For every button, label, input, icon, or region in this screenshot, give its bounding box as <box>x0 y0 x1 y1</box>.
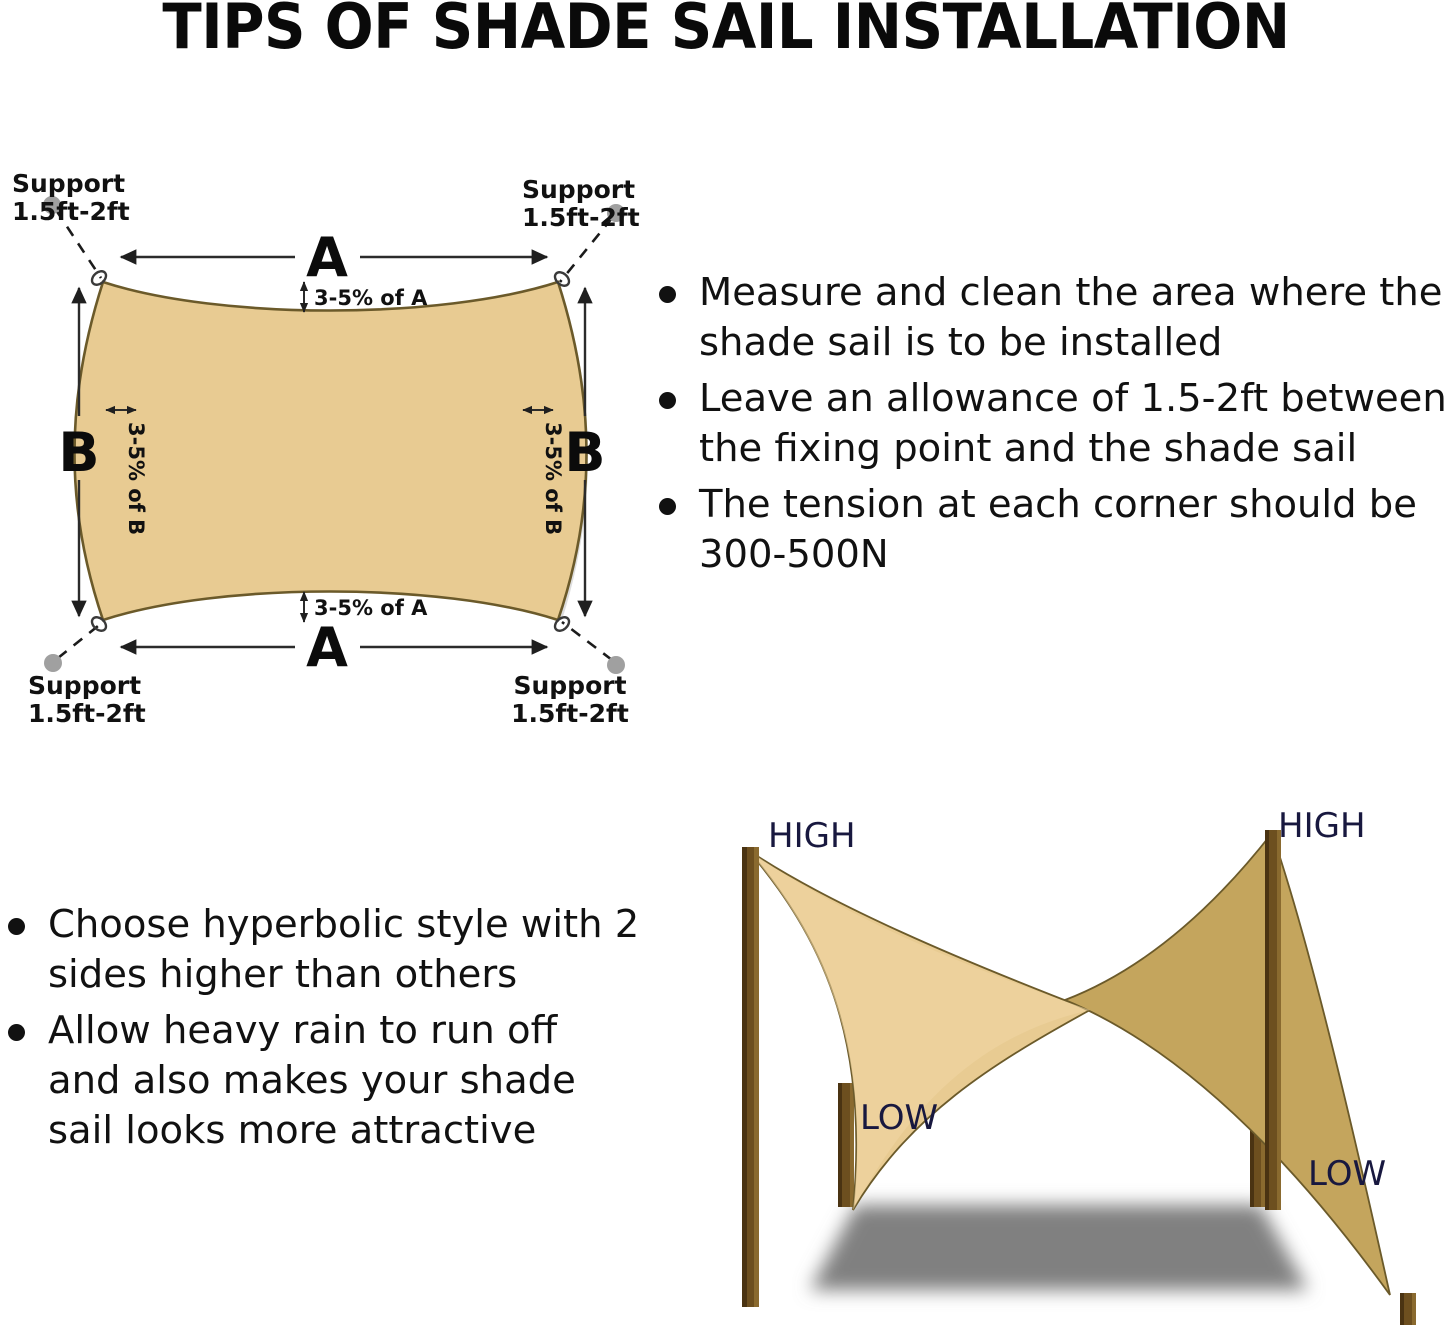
support-top-left-line1: Support <box>12 169 125 198</box>
dim-bottom-a: A <box>121 616 547 679</box>
dim-top-a-label: A <box>306 226 348 289</box>
support-bottom-left-line1: Support <box>28 671 141 700</box>
tip-item: Allow heavy rain to run off and also mak… <box>0 1006 640 1156</box>
support-bottom-left-line2: 1.5ft-2ft <box>28 699 146 728</box>
sag-top-label: 3-5% of A <box>314 286 428 310</box>
support-bottom-right-line2: 1.5ft-2ft <box>511 699 629 728</box>
sag-left-label: 3-5% of B <box>124 422 148 535</box>
dim-bottom-a-label: A <box>306 616 348 679</box>
tether-bottom-right <box>562 622 612 660</box>
tip-item: Leave an allowance of 1.5-2ft between th… <box>645 374 1452 474</box>
tips-list-bottom: Choose hyperbolic style with 2 sides hig… <box>0 900 640 1162</box>
dim-right-b-label: B <box>564 421 605 484</box>
sag-top: 3-5% of A <box>304 282 428 312</box>
sag-bottom: 3-5% of A <box>304 592 428 622</box>
support-top-left-line2: 1.5ft-2ft <box>12 197 130 226</box>
support-top-right-line2: 1.5ft-2ft <box>522 203 640 232</box>
infographic-page: TIPS OF SHADE SAIL INSTALLATION <box>0 0 1452 1325</box>
hyperbolic-sail-illustration: HIGH HIGH LOW LOW <box>660 785 1452 1325</box>
support-top-right-line1: Support <box>522 175 635 204</box>
pole-high-right <box>1265 830 1281 1210</box>
page-title: TIPS OF SHADE SAIL INSTALLATION <box>51 0 1401 58</box>
label-low-right: LOW <box>1308 1154 1386 1194</box>
rectangular-sail-diagram: A 3-5% of A A 3-5% of A B 3-5% of B <box>0 160 660 740</box>
label-high-right: HIGH <box>1278 806 1366 846</box>
pole-low-left <box>838 1083 854 1207</box>
dim-left-b-label: B <box>58 421 99 484</box>
shade-sail-shape <box>75 282 587 620</box>
sag-bottom-label: 3-5% of A <box>314 596 428 620</box>
label-high-left: HIGH <box>768 816 856 856</box>
pole-low-right <box>1400 1293 1416 1325</box>
tip-item: Measure and clean the area where the sha… <box>645 268 1452 368</box>
tips-list-top: Measure and clean the area where the sha… <box>645 268 1452 586</box>
tip-item: The tension at each corner should be 300… <box>645 480 1452 580</box>
sag-right-label: 3-5% of B <box>541 422 565 535</box>
ground-shadow <box>810 1205 1308 1290</box>
label-low-left: LOW <box>860 1098 938 1138</box>
support-dot-bottom-left <box>44 654 62 672</box>
tip-item: Choose hyperbolic style with 2 sides hig… <box>0 900 640 1000</box>
dim-top-a: A <box>121 226 547 289</box>
pole-high-left <box>742 847 759 1307</box>
support-bottom-right-line1: Support <box>513 671 626 700</box>
